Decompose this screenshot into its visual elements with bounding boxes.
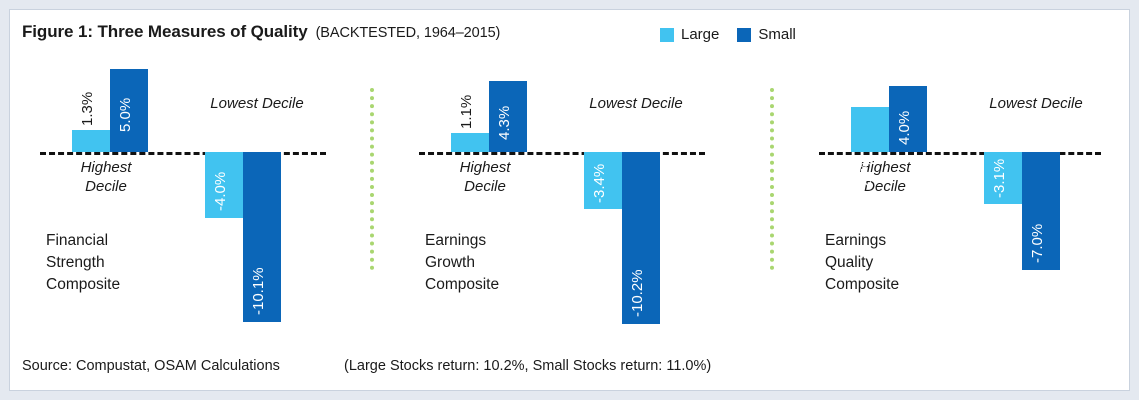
group-label-lowest: Lowest Decile bbox=[172, 95, 342, 114]
bar-value-lowest-large: -4.0% bbox=[212, 172, 229, 211]
group-label-highest-line2: Decile bbox=[437, 178, 533, 197]
panel-caption-line3: Composite bbox=[825, 274, 899, 296]
bar-value-lowest-small: -10.1% bbox=[250, 267, 267, 315]
panel-caption-line2: Strength bbox=[46, 252, 120, 274]
figure-title: Figure 1: Three Measures of Quality bbox=[22, 22, 308, 42]
panel-caption: Earnings Quality Composite bbox=[825, 230, 899, 296]
bar-value-lowest-small: -7.0% bbox=[1029, 224, 1046, 263]
panel-divider-2 bbox=[770, 88, 774, 270]
figure-header: Figure 1: Three Measures of Quality (BAC… bbox=[22, 22, 722, 48]
figure-container: Figure 1: Three Measures of Quality (BAC… bbox=[0, 0, 1139, 400]
chart-legend: Large Small bbox=[660, 26, 796, 43]
group-label-highest: Highest Decile bbox=[437, 159, 533, 197]
group-label-lowest: Lowest Decile bbox=[551, 95, 721, 114]
bar-value-lowest-large: -3.1% bbox=[991, 159, 1008, 198]
panel-caption-line2: Quality bbox=[825, 252, 899, 274]
legend-item-large[interactable]: Large bbox=[660, 26, 719, 43]
panel-caption-line3: Composite bbox=[425, 274, 499, 296]
footer-note-text: (Large Stocks return: 10.2%, Small Stock… bbox=[344, 358, 711, 374]
footer-source-text: Source: Compustat, OSAM Calculations bbox=[22, 358, 280, 374]
group-label-highest-line2: Decile bbox=[837, 178, 933, 197]
panel-caption: Financial Strength Composite bbox=[46, 230, 120, 296]
group-label-highest-line1: Highest bbox=[837, 159, 933, 178]
figure-footer: Source: Compustat, OSAM Calculations (La… bbox=[22, 358, 1102, 380]
legend-item-small[interactable]: Small bbox=[737, 26, 796, 43]
bar-value-highest-large: 1.1% bbox=[458, 95, 475, 129]
legend-label-small: Small bbox=[758, 26, 796, 43]
group-label-highest-line1: Highest bbox=[437, 159, 533, 178]
bar-highest-large[interactable] bbox=[451, 133, 489, 152]
legend-swatch-small bbox=[737, 28, 751, 42]
bar-value-highest-small: 4.0% bbox=[896, 111, 913, 145]
panel-caption-line1: Financial bbox=[46, 230, 120, 252]
group-label-highest-line2: Decile bbox=[58, 178, 154, 197]
figure-subtitle: (BACKTESTED, 1964–2015) bbox=[316, 25, 501, 41]
panel-caption-line1: Earnings bbox=[425, 230, 499, 252]
group-label-lowest: Lowest Decile bbox=[951, 95, 1121, 114]
bar-value-highest-small: 5.0% bbox=[117, 98, 134, 132]
group-label-highest-line1: Highest bbox=[58, 159, 154, 178]
bar-value-highest-small: 4.3% bbox=[496, 106, 513, 140]
plot-area: Lowest Decile Highest Decile Financial S… bbox=[22, 55, 1112, 345]
zero-axis-line bbox=[40, 152, 326, 155]
panel-earnings-growth: Lowest Decile Highest Decile Earnings Gr… bbox=[401, 55, 731, 345]
bar-value-highest-large: 1.3% bbox=[79, 92, 96, 126]
panel-earnings-quality: Lowest Decile Highest Decile Earnings Qu… bbox=[801, 55, 1131, 345]
bar-value-lowest-large: -3.4% bbox=[591, 164, 608, 203]
panel-caption-line1: Earnings bbox=[825, 230, 899, 252]
legend-label-large: Large bbox=[681, 26, 719, 43]
bar-highest-large[interactable] bbox=[851, 107, 889, 152]
group-label-highest: Highest Decile bbox=[837, 159, 933, 197]
panel-financial-strength: Lowest Decile Highest Decile Financial S… bbox=[22, 55, 352, 345]
zero-axis-line bbox=[419, 152, 705, 155]
panel-caption-line2: Growth bbox=[425, 252, 499, 274]
legend-swatch-large bbox=[660, 28, 674, 42]
group-label-highest: Highest Decile bbox=[58, 159, 154, 197]
panel-divider-1 bbox=[370, 88, 374, 270]
panel-caption: Earnings Growth Composite bbox=[425, 230, 499, 296]
bar-value-highest-large: 2.7% bbox=[858, 155, 875, 189]
bar-value-lowest-small: -10.2% bbox=[629, 269, 646, 317]
bar-highest-large[interactable] bbox=[72, 130, 110, 152]
panel-caption-line3: Composite bbox=[46, 274, 120, 296]
